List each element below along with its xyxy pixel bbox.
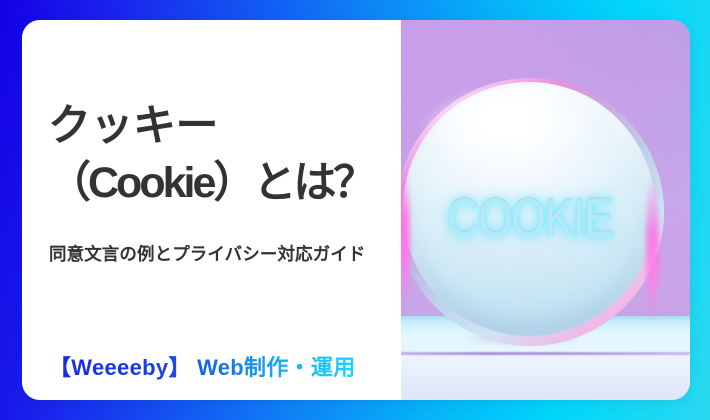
slide-canvas: クッキー （Cookie）とは？ 同意文言の例とプライバシー対応ガイド 【Wee…	[0, 0, 710, 420]
page-title: クッキー （Cookie）とは？	[48, 98, 373, 212]
title-line-2: （Cookie）とは？	[48, 155, 373, 212]
page-subtitle: 同意文言の例とプライバシー対応ガイド	[49, 241, 365, 266]
hero-image-pane: COOKIE	[401, 20, 690, 400]
brand-label: 【Weeeeby】 Web制作・運用	[49, 350, 356, 382]
cookie-highlight	[420, 90, 610, 182]
cookie-embossed-text: COOKIE	[401, 189, 664, 250]
title-line-1: クッキー	[48, 98, 373, 155]
cookie-disc: COOKIE	[401, 78, 664, 346]
text-pane: クッキー （Cookie）とは？ 同意文言の例とプライバシー対応ガイド 【Wee…	[22, 20, 401, 400]
content-card: クッキー （Cookie）とは？ 同意文言の例とプライバシー対応ガイド 【Wee…	[22, 20, 690, 400]
